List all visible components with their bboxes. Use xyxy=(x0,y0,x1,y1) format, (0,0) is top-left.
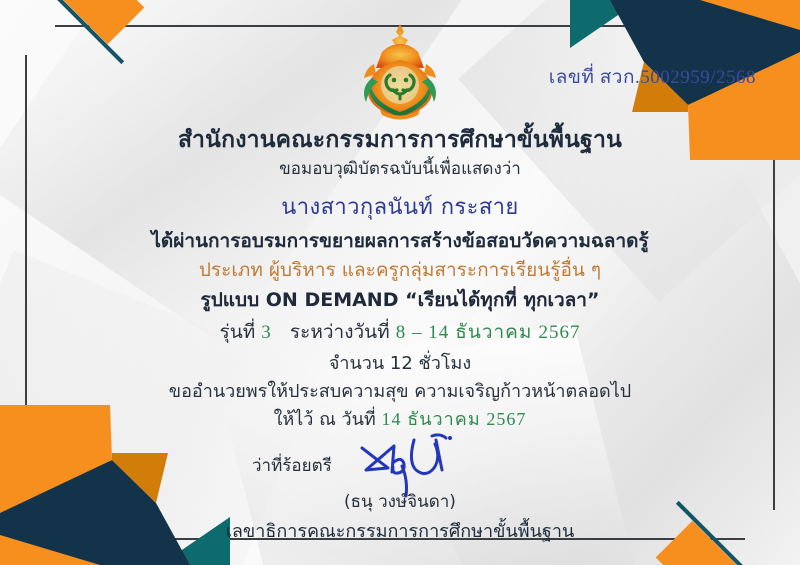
certificate-content: เลขที่ สวก.5002959/2568 xyxy=(0,0,800,565)
completion-line: ได้ผ่านการอบรมการขยายผลการสร้างข้อสอบวัด… xyxy=(0,226,800,256)
batch-year: 2567 xyxy=(538,322,580,343)
issue-date-line: ให้ไว้ ณ วันที่ 14 ธันวาคม 2567 xyxy=(0,404,800,433)
batch-and-dates-line: รุ่นที่ 3 ระหว่างวันที่ 8 – 14 ธันวาคม 2… xyxy=(0,317,800,347)
format-line: รูปแบบ ON DEMAND “เรียนได้ทุกที่ ทุกเวลา… xyxy=(0,285,800,315)
award-statement: ขอมอบวุฒิบัตรฉบับนี้เพื่อแสดงว่า xyxy=(0,155,800,182)
obec-garuda-emblem-icon xyxy=(352,22,448,122)
date-range: 8 – 14 xyxy=(396,322,450,343)
category-line: ประเภท ผู้บริหาร และครูกลุ่มสาระการเรียน… xyxy=(0,255,800,285)
batch-number: 3 xyxy=(261,322,272,343)
during-label: ระหว่างวันที่ xyxy=(290,321,390,343)
issue-year: 2567 xyxy=(486,409,526,429)
signature-block: ว่าที่ร้อยตรี (ธนุ วงษ์จินดา) เลขาธิการค… xyxy=(0,444,800,554)
signer-name: (ธนุ วงษ์จินดา) xyxy=(0,488,800,515)
recipient-name: นางสาวกุลนันท์ กระสาย xyxy=(0,189,800,224)
issue-prefix: ให้ไว้ ณ วันที่ xyxy=(274,409,376,430)
issue-month: ธันวาคม xyxy=(407,409,480,429)
organization-name: สำนักงานคณะกรรมการการศึกษาขั้นพื้นฐาน xyxy=(0,122,800,158)
certificate-page: เลขที่ สวก.5002959/2568 xyxy=(0,0,800,565)
training-hours-line: จำนวน 12 ชั่วโมง xyxy=(0,348,800,377)
blessing-line: ขออำนวยพรให้ประสบความสุข ความเจริญก้าวหน… xyxy=(0,376,800,405)
batch-month: ธันวาคม xyxy=(455,322,532,343)
issue-day: 14 xyxy=(382,409,402,429)
batch-label: รุ่นที่ xyxy=(220,321,256,343)
signer-rank: ว่าที่ร้อยตรี xyxy=(252,452,332,479)
signer-title: เลขาธิการคณะกรรมการการศึกษาขั้นพื้นฐาน xyxy=(0,516,800,545)
